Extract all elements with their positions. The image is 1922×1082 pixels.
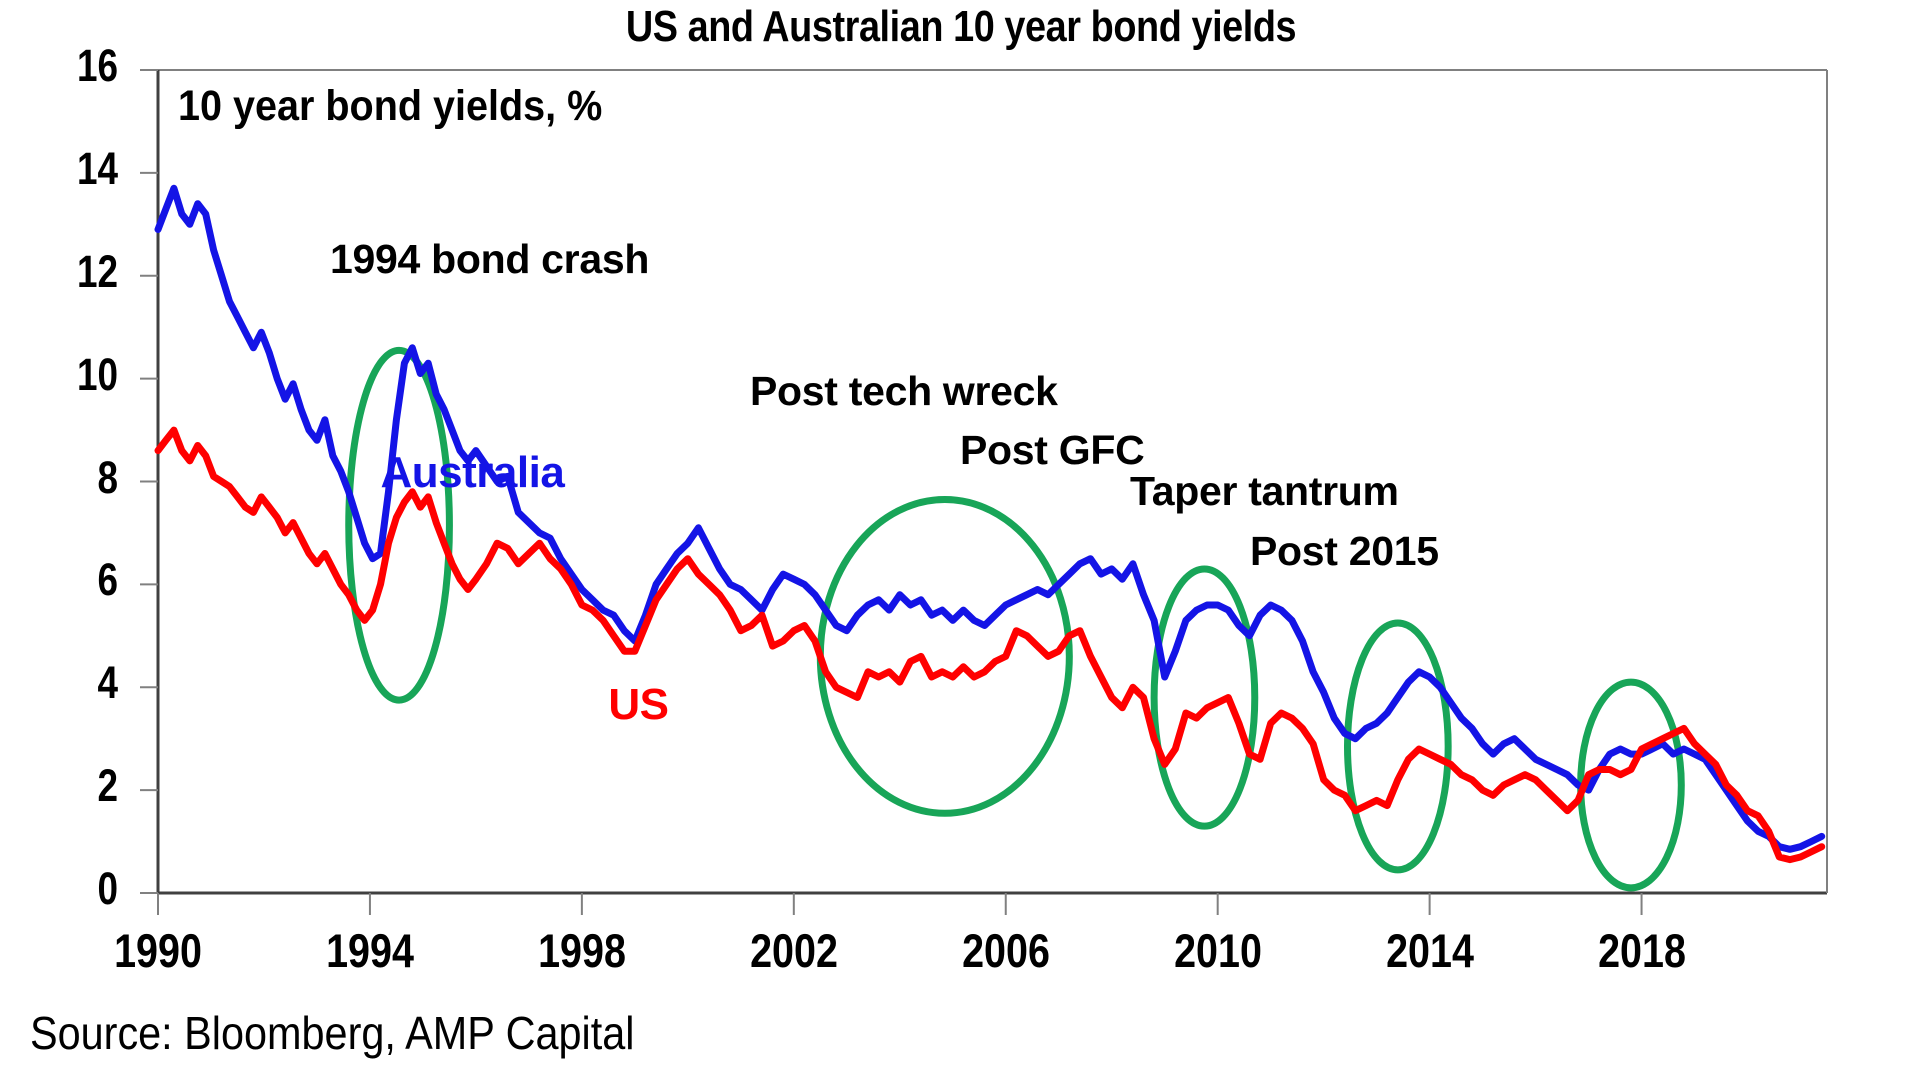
y-axis-tick-label: 10 (44, 349, 118, 401)
x-axis-tick-label: 2002 (710, 923, 878, 978)
chart-plot-area (0, 0, 1922, 1082)
annotation-label-post-2015: Post 2015 (1250, 528, 1439, 575)
series-label-us: US (608, 680, 668, 730)
series-line-australia (158, 188, 1822, 849)
x-axis-tick-label: 2010 (1134, 923, 1302, 978)
y-axis-tick-label: 6 (44, 554, 118, 606)
annotation-ellipse-taper-tantrum (1347, 623, 1448, 870)
series-label-australia: Australia (381, 448, 565, 498)
annotation-label-post-tech-wreck: Post tech wreck (750, 368, 1058, 415)
annotation-ellipse-post-tech-wreck (820, 500, 1069, 814)
x-axis-tick-label: 2006 (922, 923, 1090, 978)
x-axis-tick-label: 1998 (498, 923, 666, 978)
y-axis-tick-label: 16 (44, 40, 118, 92)
y-axis-tick-label: 4 (44, 657, 118, 709)
chart-subtitle: 10 year bond yields, % (178, 82, 602, 131)
data-series-layer (158, 188, 1822, 859)
annotation-label-bond-crash-1994: 1994 bond crash (330, 236, 649, 283)
y-axis-tick-label: 0 (44, 863, 118, 915)
annotation-label-taper-tantrum: Taper tantrum (1130, 468, 1399, 515)
x-axis-tick-label: 1994 (286, 923, 454, 978)
annotation-label-post-gfc: Post GFC (960, 427, 1144, 474)
x-axis-tick-label: 2014 (1346, 923, 1514, 978)
x-axis-tick-label: 1990 (74, 923, 242, 978)
chart-figure: US and Australian 10 year bond yields 10… (0, 0, 1922, 1082)
source-note: Source: Bloomberg, AMP Capital (30, 1006, 634, 1060)
y-axis-tick-label: 2 (44, 760, 118, 812)
annotation-ellipse-post-2015 (1581, 682, 1682, 888)
y-axis-tick-label: 14 (44, 143, 118, 195)
x-axis-tick-label: 2018 (1558, 923, 1726, 978)
y-axis-tick-label: 8 (44, 452, 118, 504)
y-axis-tick-label: 12 (44, 246, 118, 298)
